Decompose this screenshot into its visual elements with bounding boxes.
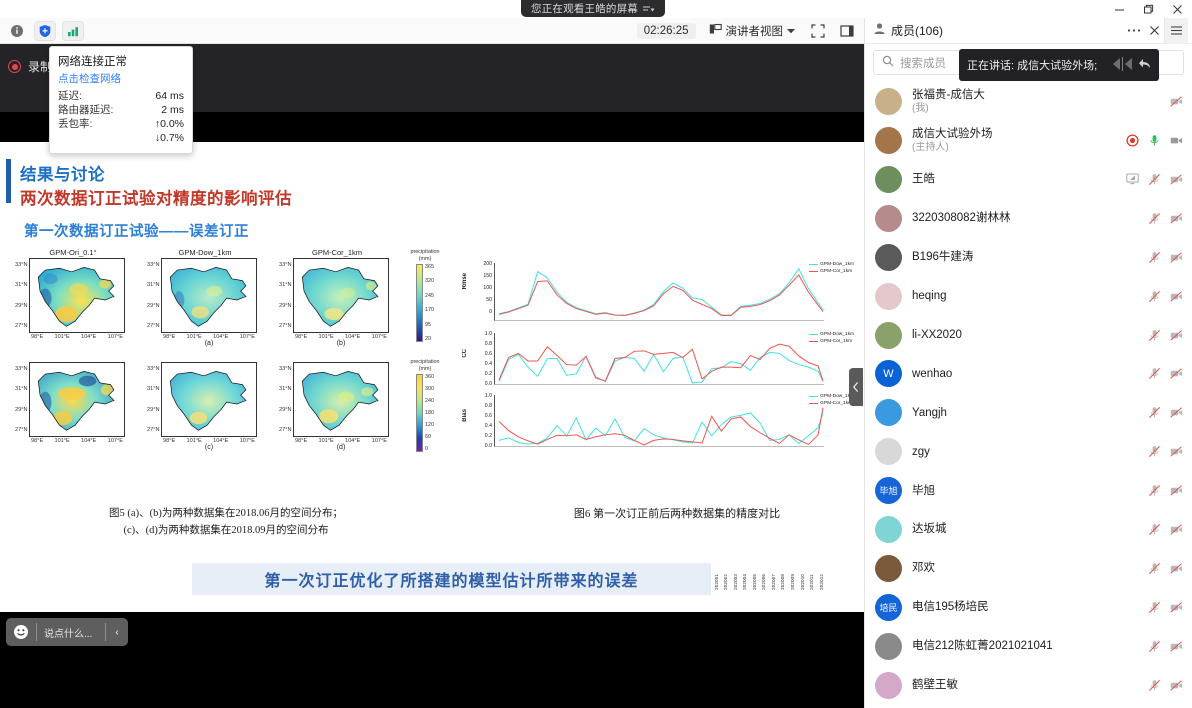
- list-chevron-icon[interactable]: [643, 5, 655, 13]
- camera-off-icon[interactable]: [1170, 679, 1183, 692]
- cbar-tick: 245: [425, 293, 434, 299]
- avatar: [875, 633, 902, 660]
- chat-input-bar[interactable]: 说点什么... ‹: [6, 618, 128, 646]
- map-x-ticks: 98°E 101°E 104°E 107°E: [29, 437, 125, 444]
- participant-name-block: 达坂城: [912, 522, 1138, 536]
- y-tick: 50: [472, 297, 492, 309]
- participant-status-icons: [1148, 445, 1183, 458]
- participant-name: 达坂城: [912, 522, 1138, 536]
- y-tick: 0.0: [472, 443, 492, 453]
- shared-slide: 结果与讨论 两次数据订正试验对精度的影响评估 第一次数据订正试验——误差订正 G…: [0, 142, 864, 612]
- legend-label: GPM-Dow_1km: [820, 331, 854, 338]
- toolbar-left-icons: [0, 21, 84, 41]
- participant-row[interactable]: zgy: [865, 432, 1192, 471]
- person-icon: [873, 22, 886, 40]
- participant-name-block: 电信195杨培民: [912, 600, 1138, 614]
- router-latency-label: 路由器延迟:: [58, 103, 113, 117]
- map-x-ticks: 98°E 101°E 104°E 107°E: [293, 437, 389, 444]
- y-tick: 31°N: [140, 282, 160, 288]
- avatar: W: [875, 360, 902, 387]
- cbar-tick: 0: [425, 446, 434, 452]
- x-tick: 101°E: [186, 334, 201, 340]
- participant-name-block: Yangjh: [912, 406, 1138, 420]
- slide-subtitle: 第一次数据订正试验——误差订正: [24, 220, 249, 241]
- participant-name: 电信195杨培民: [912, 600, 1138, 614]
- packet-loss-down-value: ↓0.7%: [58, 131, 184, 145]
- participant-name-block: 邓欢: [912, 561, 1138, 575]
- y-tick: 200: [472, 261, 492, 273]
- legend-swatch: [809, 396, 818, 397]
- sound-wave-icon: [1113, 57, 1135, 74]
- router-latency-value: 2 ms: [161, 103, 184, 117]
- speaking-toast-icons: [1113, 57, 1151, 74]
- y-tick: 27°N: [272, 427, 292, 433]
- map-cell: GPM-Dow_1km 33°N 31°N 29°N 27°N: [140, 247, 270, 347]
- y-tick: 1.0: [472, 393, 492, 403]
- screen-share-banner[interactable]: 您正在观看王皓的屏幕: [521, 0, 665, 17]
- camera-off-icon[interactable]: [1170, 95, 1183, 108]
- y-tick: 31°N: [272, 282, 292, 288]
- y-tick: 0.6: [472, 413, 492, 423]
- participant-status-icons: [1148, 679, 1183, 692]
- x-tick: 107°E: [240, 438, 255, 444]
- figure-6-caption: 图6 第一次订正前后两种数据集的精度对比: [512, 505, 842, 521]
- y-tick: 29°N: [272, 407, 292, 413]
- participant-row[interactable]: Yangjh: [865, 393, 1192, 432]
- packet-loss-label: 丢包率:: [58, 117, 92, 131]
- y-tick: 0: [472, 309, 492, 321]
- participant-name: Yangjh: [912, 406, 1138, 420]
- speaking-now-toast: 正在讲话: 成信大试验外场;: [959, 49, 1159, 81]
- y-tick: 31°N: [272, 386, 292, 392]
- map-title: [140, 351, 270, 362]
- mic-off-icon[interactable]: [1148, 445, 1161, 458]
- y-tick: 150: [472, 273, 492, 285]
- colorbar-units: (mm): [400, 366, 450, 373]
- latency-label: 延迟:: [58, 89, 82, 103]
- search-placeholder: 搜索成员: [900, 55, 946, 71]
- map-plot: [29, 258, 125, 333]
- map-plot: [293, 362, 389, 437]
- y-tick: 33°N: [272, 262, 292, 268]
- check-network-link[interactable]: 点击检查网络: [58, 71, 184, 86]
- sichuan-map-shape: [33, 263, 121, 332]
- y-tick: 0.0: [472, 381, 492, 391]
- recording-indicator[interactable]: 录制: [8, 58, 52, 75]
- avatar: [875, 438, 902, 465]
- map-cell: 33°N 31°N 29°N 27°N: [140, 351, 270, 451]
- hamburger-icon[interactable]: [1164, 18, 1188, 44]
- x-tick: 107°E: [240, 334, 255, 340]
- y-tick: 0.8: [472, 403, 492, 413]
- caption5-line2: (c)、(d)为两种数据集在2018.09月的空间分布: [46, 522, 406, 539]
- legend-swatch: [809, 334, 818, 335]
- mic-off-icon[interactable]: [1148, 562, 1161, 575]
- map-y-ticks: 33°N 31°N 29°N 27°N: [140, 362, 161, 437]
- participant-row[interactable]: 培民电信195杨培民: [865, 588, 1192, 627]
- chevron-down-icon: [787, 25, 795, 37]
- mic-off-icon[interactable]: [1148, 406, 1161, 419]
- sichuan-map-shape: [297, 367, 385, 436]
- map-title: GPM-Dow_1km: [140, 247, 270, 258]
- participant-status-icons: [1170, 95, 1183, 108]
- colorbar-bottom: precipitation (mm) 360 300 240 180 120 6…: [400, 359, 450, 452]
- map-x-ticks: 98°E 101°E 104°E 107°E: [293, 333, 389, 340]
- x-tick: 104°E: [81, 438, 96, 444]
- participant-row[interactable]: 鹤壁王敏: [865, 666, 1192, 705]
- participants-panel: 成员(106): [864, 18, 1192, 708]
- y-tick: 29°N: [272, 303, 292, 309]
- rmse-plot: [494, 263, 824, 321]
- colorbar-top: precipitation (mm) 365 320 245 170 95 20: [400, 249, 450, 342]
- figure-6: Rmse 200 150 100 50 0 GPM-Dow_1km GPM-Co…: [462, 257, 854, 502]
- participant-name-block: 张福贵-成信大(我): [912, 88, 1160, 115]
- map-plot: [161, 258, 257, 333]
- bias-axis-label: Bias: [462, 409, 468, 422]
- participant-row[interactable]: 邓欢: [865, 549, 1192, 588]
- toolbar-right-controls: 02:26:25 演讲者视图: [637, 18, 865, 44]
- avatar: [875, 205, 902, 232]
- camera-off-icon[interactable]: [1170, 484, 1183, 497]
- map-plot: [293, 258, 389, 333]
- mic-on-icon[interactable]: [1148, 134, 1161, 147]
- camera-off-icon[interactable]: [1170, 640, 1183, 653]
- cc-axis-label: CC: [462, 349, 468, 358]
- colorbar-gradient: [416, 264, 423, 342]
- map-y-ticks: 33°N 31°N 29°N 27°N: [8, 362, 29, 437]
- legend-swatch: [809, 341, 818, 342]
- participant-name: B196牛建涛: [912, 250, 1138, 264]
- view-mode-selector[interactable]: 演讲者视图: [705, 21, 800, 41]
- participant-status-icons: [1148, 290, 1183, 303]
- figure-5: GPM-Ori_0.1° 33°N 31°N 29°N 27°N: [8, 247, 458, 507]
- map-title: GPM-Cor_1km: [272, 247, 402, 258]
- participant-row[interactable]: 王皓: [865, 160, 1192, 199]
- slide-accent-bar: [6, 159, 11, 203]
- smiley-icon[interactable]: [6, 618, 36, 646]
- close-icon[interactable]: [1163, 0, 1192, 18]
- screen-share-icon[interactable]: [1126, 173, 1139, 186]
- participant-name: 3220308082谢林林: [912, 211, 1138, 225]
- x-tick: 202001: [714, 574, 719, 590]
- meeting-timer: 02:26:25: [637, 23, 696, 39]
- camera-off-icon[interactable]: [1170, 445, 1183, 458]
- y-tick: 0.4: [472, 361, 492, 371]
- y-tick: 0.2: [472, 371, 492, 381]
- map-y-ticks: 33°N 31°N 29°N 27°N: [8, 258, 29, 333]
- y-tick: 31°N: [8, 282, 28, 288]
- avatar: [875, 672, 902, 699]
- cbar-tick: 320: [425, 278, 434, 284]
- restore-icon[interactable]: [1134, 0, 1163, 18]
- participant-name: wenhao: [912, 367, 1138, 381]
- camera-off-icon[interactable]: [1170, 173, 1183, 186]
- mic-off-icon[interactable]: [1148, 601, 1161, 614]
- latency-value: 64 ms: [155, 89, 184, 103]
- map-x-ticks: 98°E 101°E 104°E 107°E: [161, 437, 257, 444]
- avatar: [875, 555, 902, 582]
- participant-name: 毕旭: [912, 484, 1138, 498]
- presenter-view-icon: [709, 23, 722, 39]
- share-banner-text: 您正在观看王皓的屏幕: [531, 1, 638, 16]
- search-icon: [882, 54, 894, 72]
- mic-off-icon[interactable]: [1148, 484, 1161, 497]
- rmse-y-ticks: 200 150 100 50 0: [472, 261, 492, 321]
- bias-legend: GPM-Dow_1km GPM-Cor_1km: [809, 393, 854, 407]
- mic-off-icon[interactable]: [1148, 640, 1161, 653]
- mic-off-icon[interactable]: [1148, 367, 1161, 380]
- participant-name-block: 3220308082谢林林: [912, 211, 1138, 225]
- legend-entry: GPM-Cor_1km: [809, 338, 854, 345]
- participant-row[interactable]: 3220308082谢林林: [865, 199, 1192, 238]
- camera-off-icon[interactable]: [1170, 212, 1183, 225]
- panel-collapse-handle[interactable]: [849, 368, 863, 406]
- participant-status-icons: [1148, 562, 1183, 575]
- bias-plot: [494, 395, 824, 447]
- split-view-icon[interactable]: [837, 21, 857, 41]
- camera-off-icon[interactable]: [1170, 406, 1183, 419]
- map-title: [8, 351, 138, 362]
- bottom-black-area: [0, 612, 864, 708]
- fullscreen-icon[interactable]: [808, 21, 828, 41]
- map-y-ticks: 33°N 31°N 29°N 27°N: [272, 258, 293, 333]
- map-title: GPM-Ori_0.1°: [8, 247, 138, 258]
- x-tick: 101°E: [318, 438, 333, 444]
- cbar-tick: 240: [425, 398, 434, 404]
- signal-bars-icon[interactable]: [62, 21, 84, 41]
- participant-row[interactable]: li-XX2020: [865, 316, 1192, 355]
- legend-swatch: [809, 403, 818, 404]
- map-sublabel: (b): [293, 340, 389, 347]
- participant-status-icons: [1148, 484, 1183, 497]
- y-tick: 29°N: [140, 407, 160, 413]
- x-tick: 101°E: [54, 334, 69, 340]
- participant-row[interactable]: 成信大试验外场(主持人): [865, 121, 1192, 160]
- minimize-icon[interactable]: [1105, 0, 1134, 18]
- x-tick: 101°E: [186, 438, 201, 444]
- participant-name: li-XX2020: [912, 328, 1138, 342]
- cbar-tick: 365: [425, 264, 434, 270]
- participant-name: 鹤壁王敏: [912, 678, 1138, 692]
- legend-entry: GPM-Dow_1km: [809, 261, 854, 268]
- x-tick: 202004: [742, 574, 747, 590]
- y-tick: 0.4: [472, 423, 492, 433]
- x-tick: 107°E: [372, 334, 387, 340]
- x-tick: 107°E: [108, 334, 123, 340]
- network-row-router: 路由器延迟: 2 ms: [58, 103, 184, 117]
- x-tick: 107°E: [108, 438, 123, 444]
- map-sublabel: (c): [161, 444, 257, 451]
- participant-name-block: 电信212陈虹菁2021021041: [912, 639, 1138, 653]
- info-icon[interactable]: [6, 21, 28, 41]
- participant-name: heqing: [912, 289, 1138, 303]
- close-icon[interactable]: [1144, 25, 1164, 36]
- x-tick: 101°E: [318, 334, 333, 340]
- x-tick: 104°E: [213, 334, 228, 340]
- avatar: [875, 244, 902, 271]
- camera-off-icon[interactable]: [1170, 601, 1183, 614]
- participant-status-icons: [1148, 212, 1183, 225]
- slide-title-secondary: 两次数据订正试验对精度的影响评估: [20, 185, 292, 209]
- participant-name: 电信212陈虹菁2021021041: [912, 639, 1138, 653]
- legend-entry: GPM-Cor_1km: [809, 400, 854, 407]
- map-cell: 33°N 31°N 29°N 27°N: [272, 351, 402, 451]
- record-dot-icon: [8, 60, 21, 73]
- participant-status-icons: [1126, 134, 1183, 147]
- participant-name-block: wenhao: [912, 367, 1138, 381]
- participant-row[interactable]: 达坂城: [865, 510, 1192, 549]
- cbar-tick: 95: [425, 322, 434, 328]
- avatar: [875, 283, 902, 310]
- x-tick: 202005: [752, 574, 757, 590]
- camera-off-icon[interactable]: [1170, 290, 1183, 303]
- map-plot: [161, 362, 257, 437]
- participant-row[interactable]: Wwenhao: [865, 354, 1192, 393]
- sichuan-map-shape: [33, 367, 121, 436]
- sichuan-map-shape: [165, 367, 253, 436]
- map-sublabel: (d): [293, 444, 389, 451]
- slide-title-primary: 结果与讨论: [20, 161, 105, 185]
- x-tick: 202009: [790, 574, 795, 590]
- participant-status-icons: [1148, 329, 1183, 342]
- x-tick: 104°E: [213, 438, 228, 444]
- y-tick: 27°N: [272, 323, 292, 329]
- avatar: 毕旭: [875, 477, 902, 504]
- cbar-tick: 120: [425, 422, 434, 428]
- avatar: [875, 322, 902, 349]
- mic-off-icon[interactable]: [1148, 329, 1161, 342]
- avatar: [875, 127, 902, 154]
- mic-off-icon[interactable]: [1148, 212, 1161, 225]
- mic-off-icon[interactable]: [1148, 251, 1161, 264]
- network-status-tooltip: 网络连接正常 点击检查网络 延迟: 64 ms 路由器延迟: 2 ms 丢包率:…: [49, 46, 193, 154]
- participant-name-block: 毕旭: [912, 484, 1138, 498]
- x-tick: 202002: [723, 574, 728, 590]
- map-cell: GPM-Cor_1km 33°N 31°N 29°N 27°N: [272, 247, 402, 347]
- participant-name-block: 王皓: [912, 172, 1116, 186]
- participant-name: zgy: [912, 445, 1138, 459]
- mic-off-icon[interactable]: [1148, 290, 1161, 303]
- x-tick: 202012: [819, 574, 824, 590]
- y-tick: 100: [472, 285, 492, 297]
- legend-label: GPM-Cor_1km: [820, 338, 852, 345]
- x-tick: 104°E: [345, 334, 360, 340]
- legend-swatch: [809, 271, 818, 272]
- participant-row[interactable]: 张福贵-成信大(我): [865, 82, 1192, 121]
- participant-status-icons: [1148, 406, 1183, 419]
- cbar-tick: 60: [425, 434, 434, 440]
- x-tick: 202008: [780, 574, 785, 590]
- x-tick: 202006: [761, 574, 766, 590]
- participants-panel-header: 成员(106): [865, 18, 1192, 44]
- colorbar-ticks: 360 300 240 180 120 60 0: [423, 374, 434, 452]
- map-cell: GPM-Ori_0.1° 33°N 31°N 29°N 27°N: [8, 247, 138, 347]
- caption5-line1: 图5 (a)、(b)为两种数据集在2018.06月的空间分布；: [46, 505, 406, 522]
- camera-off-icon[interactable]: [1170, 562, 1183, 575]
- y-tick: 33°N: [140, 262, 160, 268]
- participant-row[interactable]: 毕旭毕旭: [865, 471, 1192, 510]
- legend-entry: GPM-Dow_1km: [809, 393, 854, 400]
- line-chart-rmse: Rmse 200 150 100 50 0 GPM-Dow_1km GPM-Co…: [462, 257, 854, 329]
- cc-plot: [494, 333, 824, 385]
- reply-arrow-icon[interactable]: [1138, 58, 1151, 73]
- y-tick: 31°N: [140, 386, 160, 392]
- participant-name: 邓欢: [912, 561, 1138, 575]
- sichuan-map-shape: [165, 263, 253, 332]
- x-tick: 107°E: [372, 438, 387, 444]
- y-tick: 0.8: [472, 341, 492, 351]
- mic-off-icon[interactable]: [1148, 679, 1161, 692]
- participant-row[interactable]: 电信212陈虹菁2021021041: [865, 627, 1192, 666]
- sichuan-map-shape: [297, 263, 385, 332]
- record-icon[interactable]: [1126, 134, 1139, 147]
- colorbar-gradient: [416, 374, 423, 452]
- avatar: [875, 399, 902, 426]
- figure-5-caption: 图5 (a)、(b)为两种数据集在2018.06月的空间分布； (c)、(d)为…: [46, 505, 406, 539]
- camera-off-icon[interactable]: [1170, 367, 1183, 380]
- shield-plus-icon[interactable]: [34, 21, 56, 41]
- map-cell: 33°N 31°N 29°N 27°N: [8, 351, 138, 451]
- participant-name-block: 成信大试验外场(主持人): [912, 127, 1116, 154]
- chat-input[interactable]: 说点什么...: [36, 623, 106, 641]
- y-tick: 33°N: [8, 366, 28, 372]
- cbar-tick: 300: [425, 386, 434, 392]
- x-tick: 202007: [771, 574, 776, 590]
- legend-label: GPM-Dow_1km: [820, 261, 854, 268]
- participant-name: 王皓: [912, 172, 1116, 186]
- y-tick: 27°N: [8, 427, 28, 433]
- participant-status-icons: [1126, 173, 1183, 186]
- legend-label: GPM-Cor_1km: [820, 400, 852, 407]
- camera-off-icon[interactable]: [1170, 329, 1183, 342]
- participant-name: 成信大试验外场: [912, 127, 1116, 141]
- colorbar-ticks: 365 320 245 170 95 20: [423, 264, 434, 342]
- window-controls: [1105, 0, 1192, 18]
- participants-list[interactable]: 张福贵-成信大(我) 成信大试验外场(主持人) 王皓: [865, 82, 1192, 708]
- avatar: [875, 88, 902, 115]
- more-dots-icon[interactable]: [1124, 28, 1144, 33]
- colorbar-units: (mm): [400, 256, 450, 263]
- camera-off-icon[interactable]: [1170, 251, 1183, 264]
- y-tick: 29°N: [8, 303, 28, 309]
- y-tick: 33°N: [8, 262, 28, 268]
- map-x-ticks: 98°E 101°E 104°E 107°E: [161, 333, 257, 340]
- cbar-tick: 360: [425, 374, 434, 380]
- y-tick: 31°N: [8, 386, 28, 392]
- mic-off-icon[interactable]: [1148, 173, 1161, 186]
- chevron-left-icon[interactable]: ‹: [106, 618, 128, 646]
- participant-name-block: li-XX2020: [912, 328, 1138, 342]
- mic-off-icon[interactable]: [1148, 523, 1161, 536]
- legend-label: GPM-Cor_1km: [820, 268, 852, 275]
- legend-entry: GPM-Cor_1km: [809, 268, 854, 275]
- y-tick: 29°N: [140, 303, 160, 309]
- participant-row[interactable]: B196牛建涛: [865, 238, 1192, 277]
- participant-name-block: B196牛建涛: [912, 250, 1138, 264]
- line-chart-bias: Bias 1.0 0.8 0.6 0.4 0.2 0.0 GPM-Dow_1km…: [462, 391, 854, 453]
- y-tick: 33°N: [272, 366, 292, 372]
- map-title: [272, 351, 402, 362]
- map-y-ticks: 33°N 31°N 29°N 27°N: [272, 362, 293, 437]
- camera-off-icon[interactable]: [1170, 134, 1183, 147]
- participant-row[interactable]: heqing: [865, 277, 1192, 316]
- camera-off-icon[interactable]: [1170, 523, 1183, 536]
- x-tick: 98°E: [295, 438, 307, 444]
- cbar-tick: 20: [425, 336, 434, 342]
- y-tick: 33°N: [140, 366, 160, 372]
- participant-status-icons: [1148, 640, 1183, 653]
- y-tick: 1.0: [472, 331, 492, 341]
